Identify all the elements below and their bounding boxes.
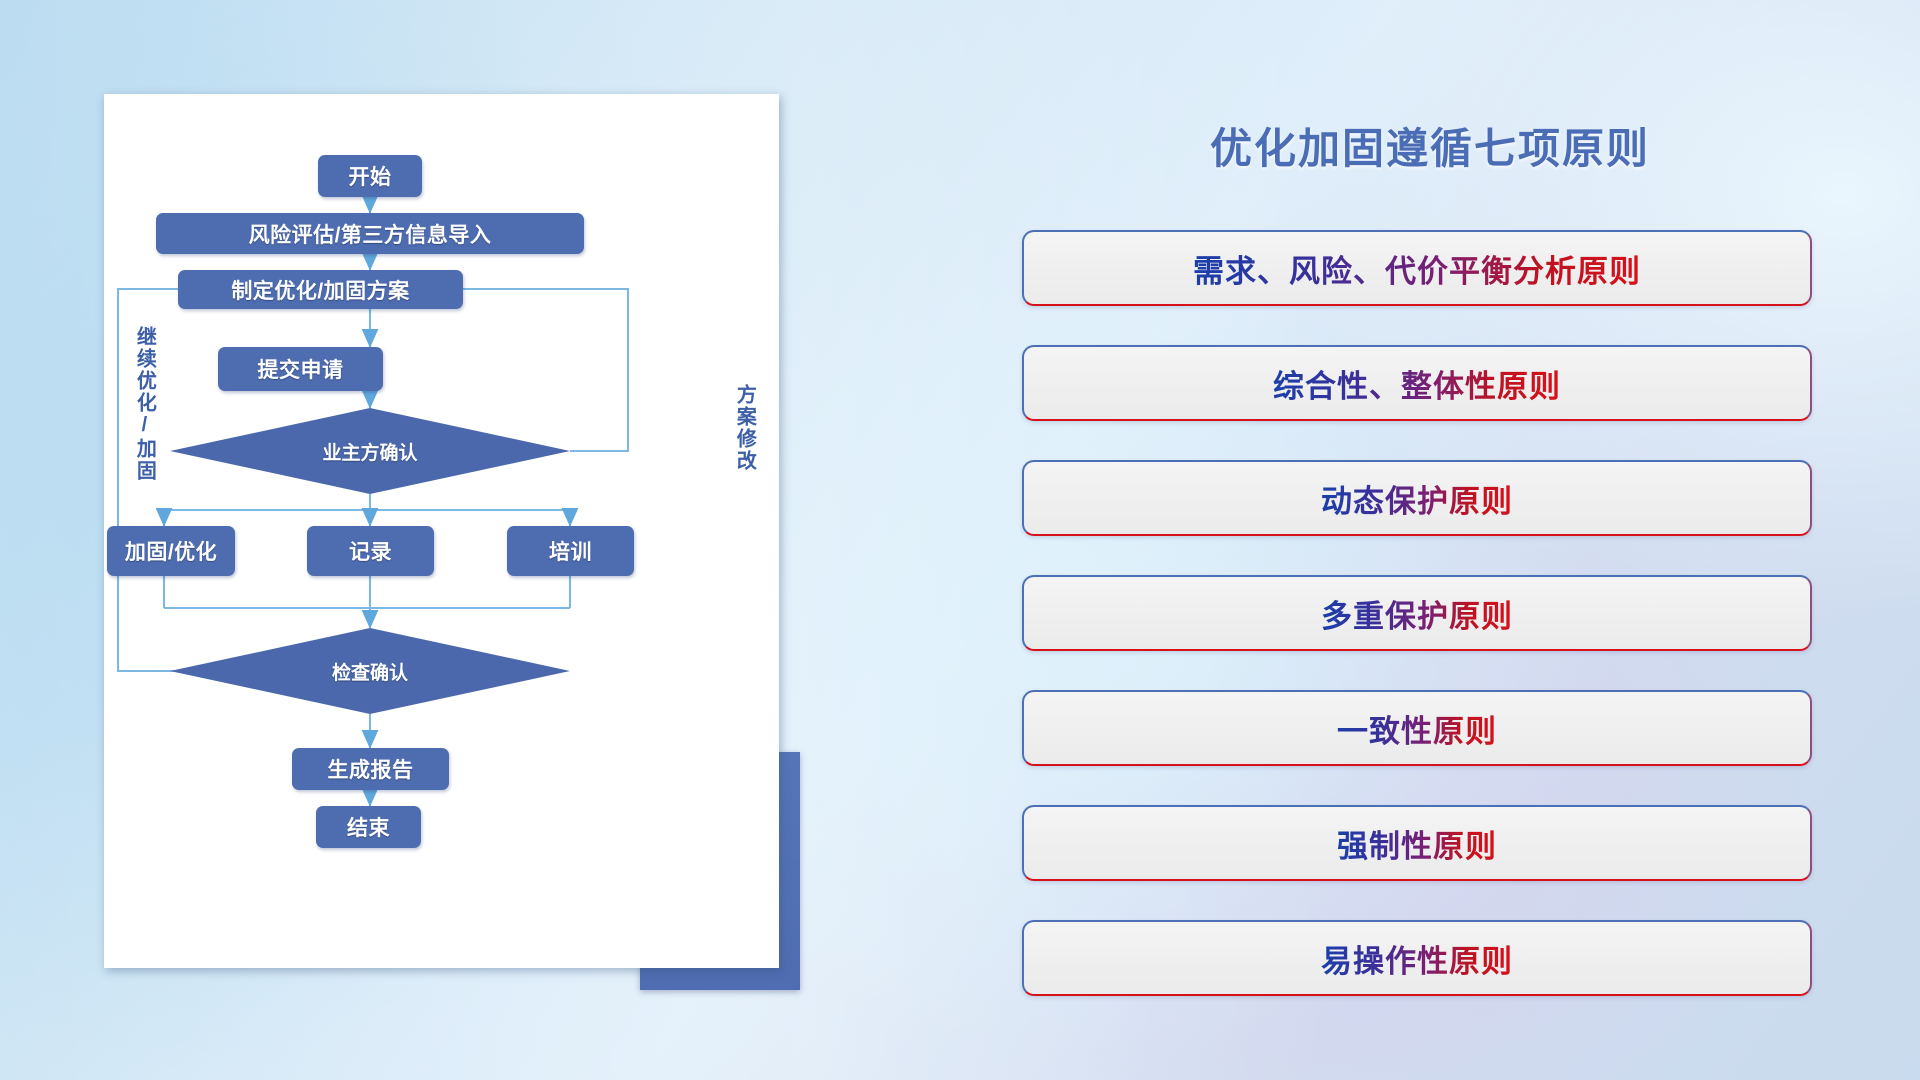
flow-node-record[interactable]: 记录 (307, 526, 434, 576)
flowchart-card: 开始 风险评估/第三方信息导入 制定优化/加固方案 提交申请 业主方确认 加固/… (104, 94, 779, 968)
flow-node-check-confirm[interactable]: 检查确认 (270, 650, 470, 692)
flow-node-owner-confirm[interactable]: 业主方确认 (270, 430, 470, 472)
principle-card[interactable]: 动态保护原则 (1022, 460, 1812, 536)
principle-label: 一致性原则 (1337, 706, 1497, 751)
principle-card[interactable]: 一致性原则 (1022, 690, 1812, 766)
flow-node-training[interactable]: 培训 (507, 526, 634, 576)
principle-label: 多重保护原则 (1321, 591, 1513, 636)
principle-label: 易操作性原则 (1321, 936, 1513, 981)
flow-node-generate-report[interactable]: 生成报告 (292, 748, 449, 790)
principle-label: 强制性原则 (1337, 821, 1497, 866)
principle-card[interactable]: 多重保护原则 (1022, 575, 1812, 651)
flow-node-plan[interactable]: 制定优化/加固方案 (178, 270, 463, 309)
principle-label: 动态保护原则 (1321, 476, 1513, 521)
flow-node-end[interactable]: 结束 (316, 806, 421, 848)
principle-card[interactable]: 强制性原则 (1022, 805, 1812, 881)
flow-node-start[interactable]: 开始 (318, 155, 422, 197)
flow-node-submit-application[interactable]: 提交申请 (218, 347, 383, 391)
principle-label: 综合性、整体性原则 (1273, 361, 1561, 406)
principle-list: 需求、风险、代价平衡分析原则 综合性、整体性原则 动态保护原则 多重保护原则 一… (1022, 230, 1812, 996)
panel-title: 优化加固遵循七项原则 (1150, 115, 1710, 176)
principle-label: 需求、风险、代价平衡分析原则 (1193, 246, 1641, 291)
principle-card[interactable]: 综合性、整体性原则 (1022, 345, 1812, 421)
principle-card[interactable]: 易操作性原则 (1022, 920, 1812, 996)
flow-node-risk-assessment[interactable]: 风险评估/第三方信息导入 (156, 213, 584, 254)
principle-card[interactable]: 需求、风险、代价平衡分析原则 (1022, 230, 1812, 306)
flow-node-reinforce[interactable]: 加固/优化 (107, 526, 235, 576)
flow-edge-label-left-loop: 继续优化/加固 (134, 326, 154, 482)
flow-edge-label-right-loop: 方案修改 (734, 384, 754, 472)
